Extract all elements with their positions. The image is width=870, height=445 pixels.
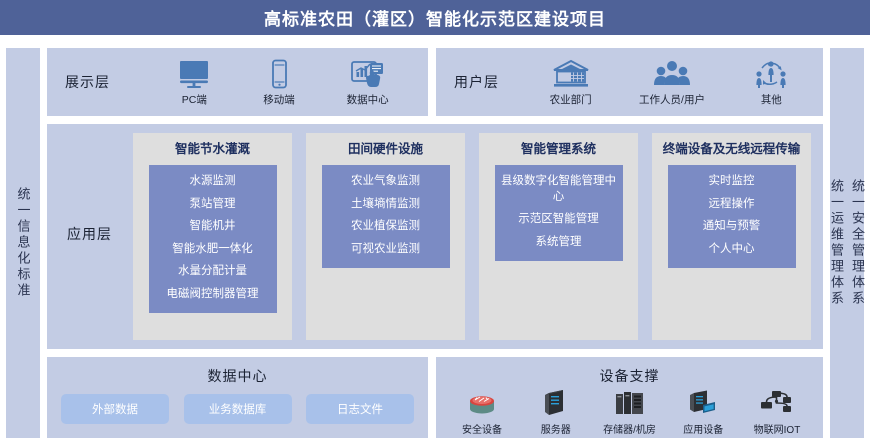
app-column-title: 田间硬件设施 (316, 142, 456, 158)
page-title-bar: 高标准农田（灌区）智能化示范区建设项目 (0, 0, 870, 35)
device-item-iot-label: 物联网IOT (754, 421, 801, 436)
tablet-chart-touch-icon (350, 57, 386, 89)
page-title: 高标准农田（灌区）智能化示范区建设项目 (264, 5, 606, 30)
app-item[interactable]: 水量分配计量 (150, 261, 276, 284)
app-column-items: 实时监控 远程操作 通知与预警 个人中心 (668, 165, 796, 268)
application-layer-label: 应用层 (67, 224, 112, 244)
device-item-security[interactable]: 安全设备 (448, 387, 516, 436)
app-column-items: 县级数字化智能管理中心 示范区智能管理 系统管理 (495, 165, 623, 261)
app-item[interactable]: 个人中心 (669, 238, 795, 261)
device-item-application[interactable]: 应用设备 (669, 387, 737, 436)
user-layer-items: 农业部门 工作人员/用户 (526, 57, 814, 107)
device-item-server[interactable]: 服务器 (522, 387, 590, 436)
presentation-item-datacenter[interactable]: 数据中心 (347, 57, 389, 107)
app-item[interactable]: 智能机井 (150, 216, 276, 239)
user-item-staff-label: 工作人员/用户 (639, 92, 705, 107)
government-building-icon (552, 57, 590, 89)
app-item[interactable]: 系统管理 (496, 231, 622, 254)
app-item[interactable]: 实时监控 (669, 171, 795, 194)
router-security-icon (465, 387, 499, 419)
presentation-item-mobile-label: 移动端 (263, 92, 295, 107)
app-item[interactable]: 智能水肥一体化 (150, 238, 276, 261)
presentation-layer-items: PC端 移动端 (152, 57, 414, 107)
presentation-item-datacenter-label: 数据中心 (347, 92, 389, 107)
data-center-panel: 数据中心 外部数据 业务数据库 日志文件 (47, 357, 428, 438)
data-center-title: 数据中心 (47, 366, 428, 386)
presentation-item-pc-label: PC端 (182, 92, 207, 107)
app-item[interactable]: 电磁阀控制器管理 (150, 283, 276, 306)
presentation-layer-label: 展示层 (65, 72, 110, 92)
app-item[interactable]: 农业气象监测 (323, 171, 449, 194)
app-column-items: 农业气象监测 土壤墒情监测 农业植保监测 可视农业监测 (322, 165, 450, 268)
device-item-storage[interactable]: 存储器/机房 (596, 387, 664, 436)
app-item[interactable]: 农业植保监测 (323, 216, 449, 239)
data-center-chips: 外部数据 业务数据库 日志文件 (61, 394, 414, 424)
user-item-agriculture-dept-label: 农业部门 (550, 92, 592, 107)
rail-right-stack: 统一安全管理体系 统一运维管理体系 (826, 48, 868, 438)
user-layer-panel: 用户层 农业部门 (436, 48, 823, 116)
app-column-terminal-transmission: 终端设备及无线远程传输 实时监控 远程操作 通知与预警 个人中心 (652, 133, 811, 340)
iot-network-icon (758, 387, 796, 419)
presentation-item-mobile[interactable]: 移动端 (262, 57, 296, 107)
server-tower-icon (539, 387, 573, 419)
users-group-icon (653, 57, 691, 89)
device-item-iot[interactable]: 物联网IOT (743, 387, 811, 436)
app-item[interactable]: 通知与预警 (669, 216, 795, 239)
rail-right-label-operations: 统一运维管理体系 (827, 179, 846, 307)
app-column-title: 智能管理系统 (489, 142, 629, 158)
data-chip-business-db[interactable]: 业务数据库 (184, 394, 292, 424)
device-support-title: 设备支撑 (436, 366, 823, 386)
data-chip-log-files[interactable]: 日志文件 (306, 394, 414, 424)
mobile-phone-icon (262, 57, 296, 89)
device-support-panel: 设备支撑 安全设备 (436, 357, 823, 438)
rail-right-label-security: 统一安全管理体系 (848, 179, 867, 307)
user-item-other-label: 其他 (761, 92, 782, 107)
application-columns: 智能节水灌溉 水源监测 泵站管理 智能机井 智能水肥一体化 水量分配计量 电磁阀… (133, 133, 811, 340)
device-item-server-label: 服务器 (541, 421, 571, 436)
device-item-storage-label: 存储器/机房 (603, 421, 656, 436)
app-column-title: 智能节水灌溉 (143, 142, 283, 158)
app-column-smart-irrigation: 智能节水灌溉 水源监测 泵站管理 智能机井 智能水肥一体化 水量分配计量 电磁阀… (133, 133, 292, 340)
app-item[interactable]: 土壤墒情监测 (323, 193, 449, 216)
user-item-staff[interactable]: 工作人员/用户 (639, 57, 705, 107)
app-item[interactable]: 水源监测 (150, 171, 276, 194)
application-device-icon (684, 387, 722, 419)
monitor-icon (177, 57, 211, 89)
app-item[interactable]: 示范区智能管理 (496, 209, 622, 232)
presentation-layer-panel: 展示层 PC端 (47, 48, 428, 116)
user-layer-label: 用户层 (454, 72, 499, 92)
app-column-title: 终端设备及无线远程传输 (662, 142, 802, 158)
application-layer-panel: 应用层 智能节水灌溉 水源监测 泵站管理 智能机井 智能水肥一体化 水量分配计量… (47, 124, 823, 349)
app-item[interactable]: 泵站管理 (150, 193, 276, 216)
app-column-smart-management: 智能管理系统 县级数字化智能管理中心 示范区智能管理 系统管理 (479, 133, 638, 340)
user-item-agriculture-dept[interactable]: 农业部门 (550, 57, 592, 107)
storage-rack-icon (610, 387, 650, 419)
rail-information-standard: 统一信息化标准 (6, 48, 40, 438)
app-column-items: 水源监测 泵站管理 智能机井 智能水肥一体化 水量分配计量 电磁阀控制器管理 (149, 165, 277, 313)
device-item-security-label: 安全设备 (462, 421, 502, 436)
device-support-items: 安全设备 服务器 (448, 387, 811, 436)
app-item[interactable]: 远程操作 (669, 193, 795, 216)
user-item-other[interactable]: 其他 (752, 57, 790, 107)
architecture-diagram: 高标准农田（灌区）智能化示范区建设项目 统一信息化标准 统一安全管理体系 统一运… (0, 0, 870, 445)
rail-management-systems: 统一安全管理体系 统一运维管理体系 (830, 48, 864, 438)
device-item-application-label: 应用设备 (683, 421, 723, 436)
rail-left-label: 统一信息化标准 (14, 187, 33, 299)
people-cycle-icon (752, 57, 790, 89)
presentation-item-pc[interactable]: PC端 (177, 57, 211, 107)
data-chip-external[interactable]: 外部数据 (61, 394, 169, 424)
app-column-field-hardware: 田间硬件设施 农业气象监测 土壤墒情监测 农业植保监测 可视农业监测 (306, 133, 465, 340)
app-item[interactable]: 县级数字化智能管理中心 (496, 171, 622, 209)
app-item[interactable]: 可视农业监测 (323, 238, 449, 261)
